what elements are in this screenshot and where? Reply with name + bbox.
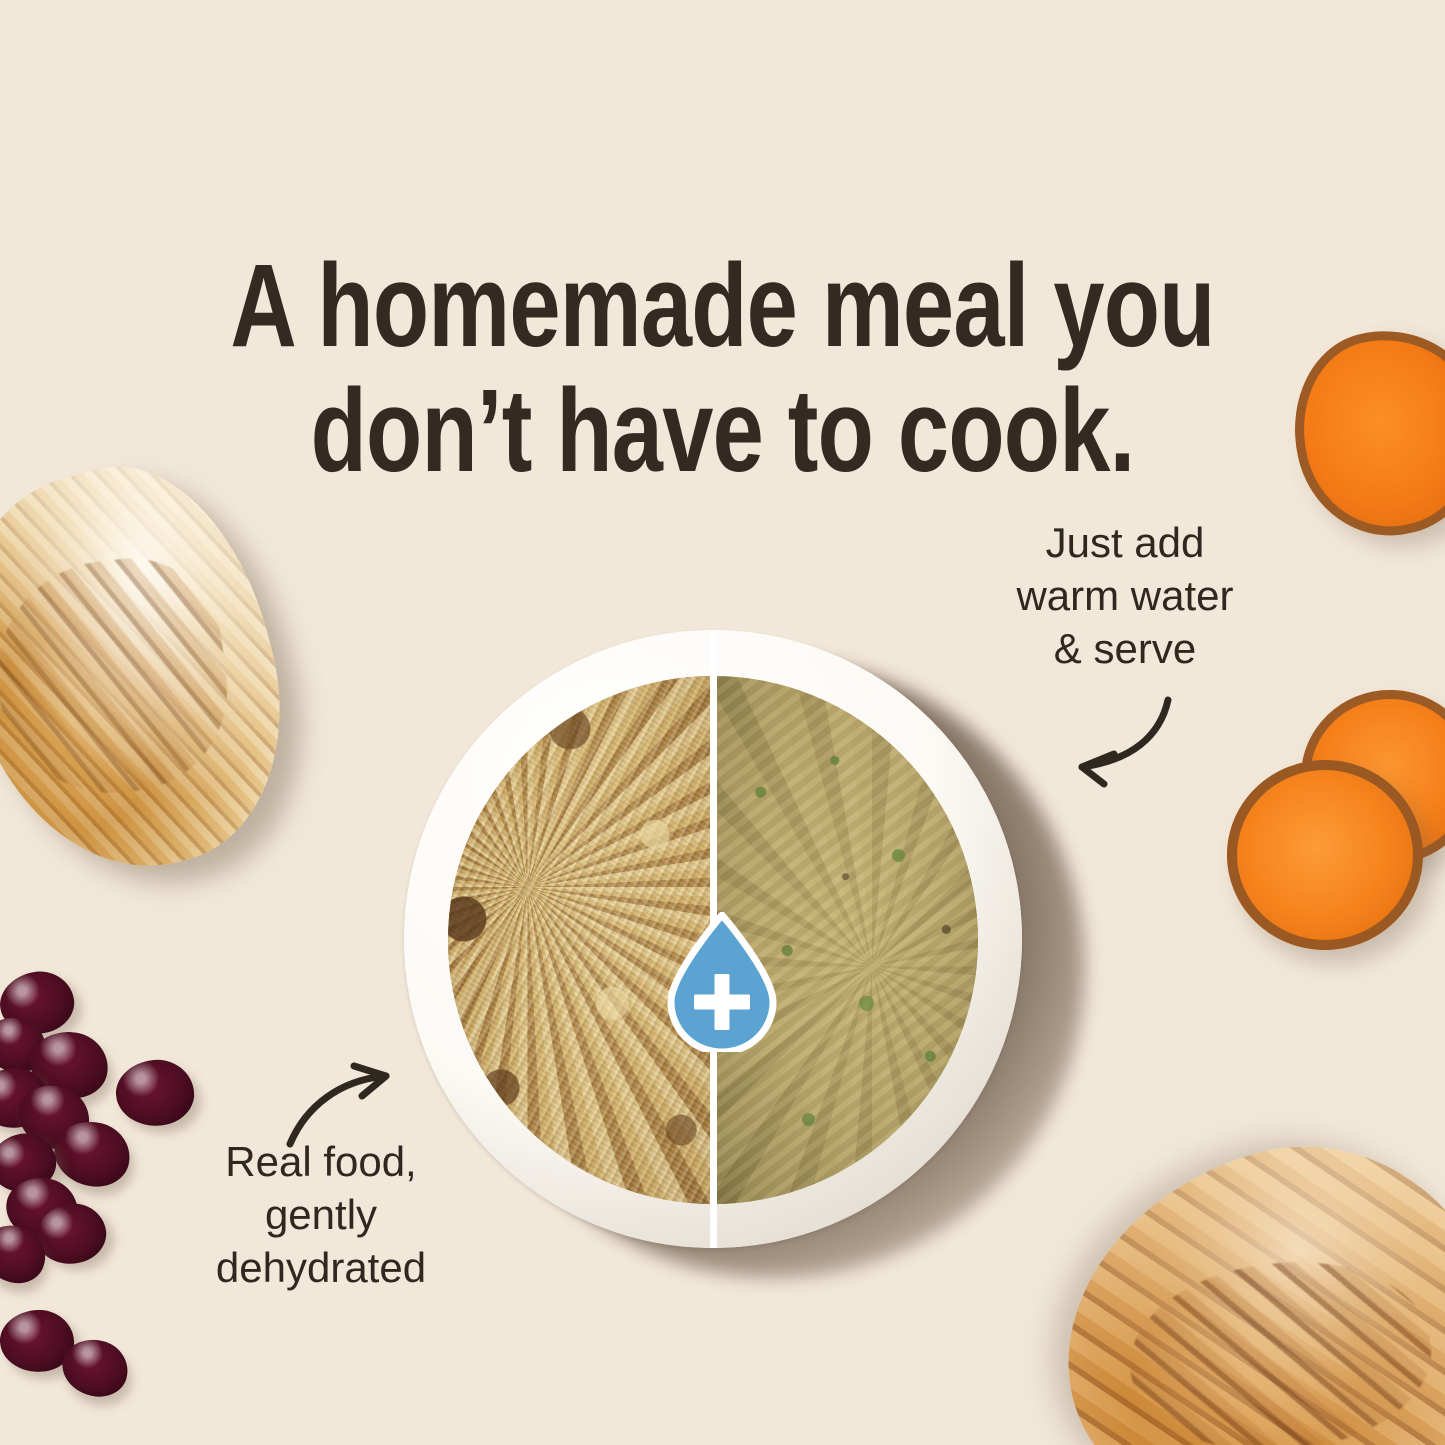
cranberry	[113, 1056, 197, 1130]
callout-real-food: Real food, gently dehydrated	[176, 1135, 466, 1294]
fish-fillet-photo	[0, 438, 319, 902]
bowl-divider-line-bottom	[710, 1188, 717, 1248]
arrow-up-right-icon	[282, 1058, 412, 1153]
product-marketing-poster: A homemade meal you don’t have to cook. …	[0, 0, 1445, 1445]
page-title: A homemade meal you don’t have to cook.	[159, 244, 1286, 494]
fish-sear-marks	[0, 548, 239, 806]
chicken-grill-marks	[1119, 1243, 1443, 1445]
sweet-potato-slice-lower-photo	[1227, 760, 1423, 950]
grilled-chicken-photo	[1018, 1097, 1445, 1445]
headline-line-1: A homemade meal you	[159, 244, 1286, 369]
callout-just-add-water: Just add warm water & serve	[975, 516, 1275, 675]
arrow-down-left-icon	[1040, 688, 1190, 783]
water-drop-plus-icon	[663, 912, 781, 1052]
sweet-potato-wedge-photo	[1276, 312, 1445, 552]
headline-line-2: don’t have to cook.	[159, 369, 1286, 494]
bowl-divider-line-top	[710, 630, 717, 690]
